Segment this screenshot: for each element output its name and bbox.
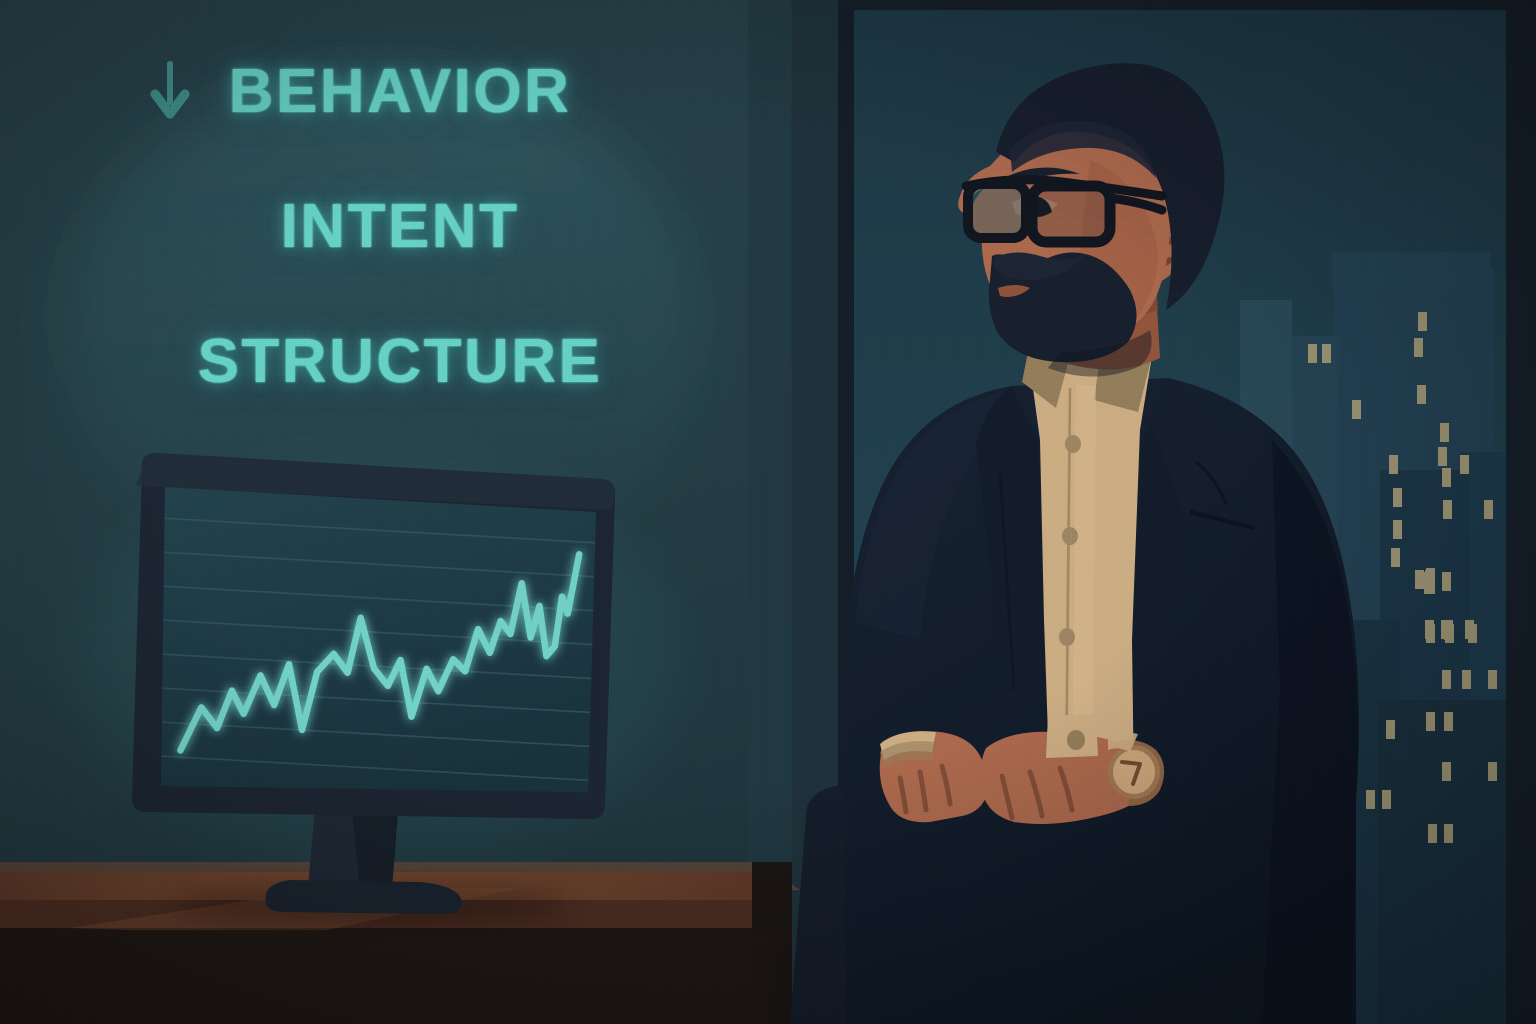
illustration-scene: BEHAVIOR INTENT STRUCTURE (0, 0, 1536, 1024)
window-head (836, 0, 1536, 10)
window-jamb-right (1506, 0, 1536, 1024)
room-background (0, 0, 1536, 1024)
